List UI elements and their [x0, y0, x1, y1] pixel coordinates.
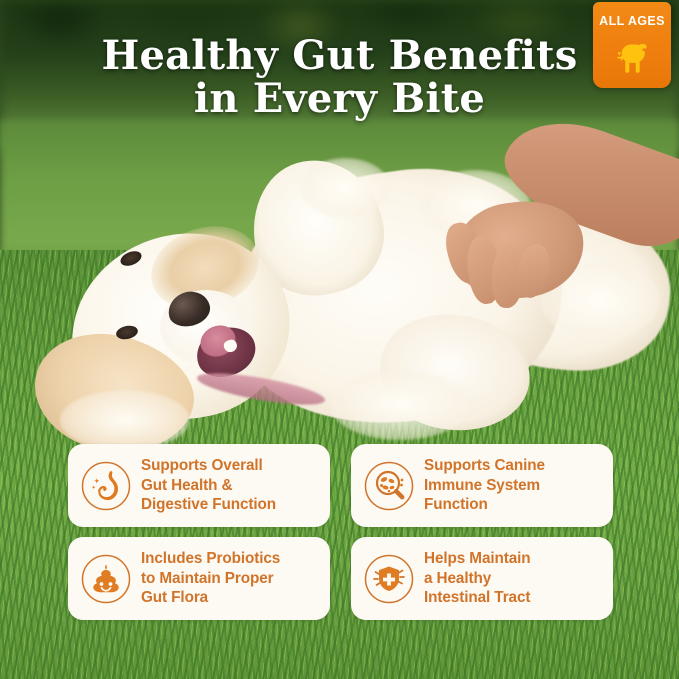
benefit-line: a Healthy	[424, 569, 531, 588]
benefit-line: Gut Health &	[141, 476, 276, 495]
all-ages-badge: ALL AGES	[593, 2, 671, 88]
fur-tuft	[60, 390, 190, 450]
magnifier-microbes-icon	[363, 460, 415, 512]
benefit-line: Supports Overall	[141, 456, 276, 475]
sitting-dog-icon	[604, 30, 660, 91]
benefit-card-text: Supports Canine Immune System Function	[424, 456, 545, 514]
benefit-card-text: Includes Probiotics to Maintain Proper G…	[141, 549, 280, 607]
benefit-line: Gut Flora	[141, 588, 280, 607]
benefit-card-gut-health: Supports Overall Gut Health & Digestive …	[68, 444, 330, 527]
benefit-card-immune-system: Supports Canine Immune System Function	[351, 444, 613, 527]
benefit-line: Digestive Function	[141, 495, 276, 514]
benefit-card-text: Helps Maintain a Healthy Intestinal Trac…	[424, 549, 531, 607]
benefit-line: Includes Probiotics	[141, 549, 280, 568]
benefit-card-text: Supports Overall Gut Health & Digestive …	[141, 456, 276, 514]
benefit-line: Function	[424, 495, 545, 514]
shield-plus-icon	[363, 553, 415, 605]
headline: Healthy Gut Benefits in Every Bite	[0, 34, 679, 120]
benefit-card-intestinal-tract: Helps Maintain a Healthy Intestinal Trac…	[351, 537, 613, 620]
headline-line-2: in Every Bite	[86, 77, 593, 120]
benefit-line: Immune System	[424, 476, 545, 495]
product-infographic: Healthy Gut Benefits in Every Bite ALL A…	[0, 0, 679, 679]
stomach-icon	[80, 460, 132, 512]
smiling-poop-icon	[80, 553, 132, 605]
benefit-cards: Supports Overall Gut Health & Digestive …	[68, 444, 613, 620]
fur-tuft	[300, 158, 390, 218]
human-hand	[382, 140, 679, 350]
fur-tuft	[330, 370, 470, 440]
benefit-card-probiotics: Includes Probiotics to Maintain Proper G…	[68, 537, 330, 620]
benefit-line: Supports Canine	[424, 456, 545, 475]
headline-line-1: Healthy Gut Benefits	[102, 32, 578, 79]
benefit-line: Helps Maintain	[424, 549, 531, 568]
all-ages-badge-label: ALL AGES	[599, 14, 665, 28]
benefit-line: to Maintain Proper	[141, 569, 280, 588]
benefit-line: Intestinal Tract	[424, 588, 531, 607]
